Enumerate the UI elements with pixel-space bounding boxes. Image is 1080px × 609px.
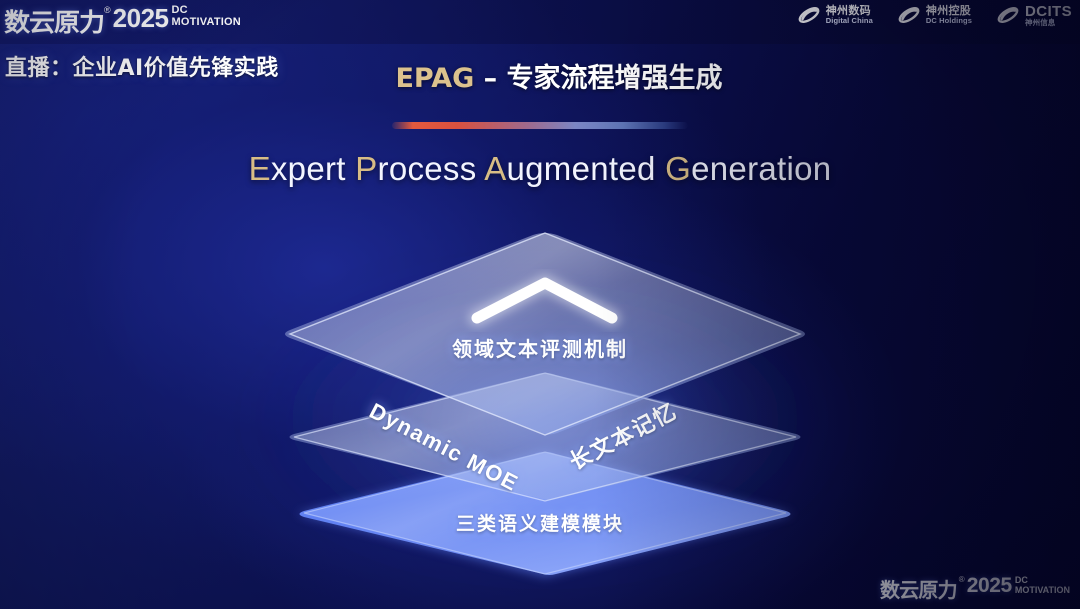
diagram-layer-middle	[290, 373, 801, 501]
partner-text: DCITS 神州信息	[1025, 4, 1072, 27]
layer-label-top: 领域文本评测机制	[452, 333, 628, 362]
partner-text: 神州数码 Digital China	[826, 6, 873, 25]
middle-plate	[290, 373, 801, 500]
watermark-dc: DC	[1015, 576, 1070, 585]
chevron-up-icon	[477, 283, 612, 318]
watermark-cn: 数云原力	[880, 574, 957, 603]
middle-plate-sheen	[294, 373, 796, 501]
subtitle-cap-e: E	[249, 150, 271, 187]
brand-logo-year: 2025	[113, 3, 169, 34]
middle-plate-edge	[294, 373, 796, 501]
partner-name-en: Digital China	[826, 17, 873, 25]
watermark-registered-mark: ®	[959, 575, 965, 584]
title-divider	[392, 122, 688, 129]
brand-logo-dc: DC	[172, 5, 241, 16]
partner-name-en: DC Holdings	[926, 17, 972, 25]
subtitle-cap-p: P	[355, 150, 377, 187]
footer-watermark-logo: 数云原力®2025 DC MOTIVATION	[880, 574, 1070, 603]
brand-logo-registered-mark: ®	[104, 5, 111, 15]
title-chinese: 专家流程增强生成	[507, 63, 723, 94]
partner-name-en: 神州信息	[1025, 19, 1072, 27]
brand-logo-motivation: MOTIVATION	[172, 17, 241, 28]
subtitle-cap-g: G	[665, 150, 691, 187]
swirl-icon	[996, 4, 1020, 26]
layer-label-long-text-memory: 长文本记忆	[563, 394, 682, 477]
layer-label-bottom: 三类语义建模模块	[456, 509, 624, 536]
subtitle-cap-a: A	[484, 150, 506, 187]
watermark-motivation: MOTIVATION	[1015, 586, 1070, 595]
watermark-dc-motivation: DC MOTIVATION	[1015, 576, 1070, 595]
swirl-icon	[897, 4, 921, 26]
partner-text: 神州控股 DC Holdings	[926, 6, 972, 25]
livestream-title: 直播：企业AI价值先锋实践	[5, 50, 279, 82]
slide-canvas: 领域文本评测机制 Dynamic MOE 长文本记忆 三类语义建模模块 EPAG…	[0, 0, 1080, 609]
watermark-year: 2025	[967, 574, 1012, 598]
subtitle-rest-generation: eneration	[691, 150, 831, 187]
partner-name-cn: DCITS	[1025, 4, 1072, 19]
subtitle-rest-expert: xpert	[271, 150, 346, 187]
brand-logo-cn: 数云原力	[4, 3, 104, 39]
partner-logo-dcits[interactable]: DCITS 神州信息	[996, 4, 1072, 27]
partner-logos: 神州数码 Digital China 神州控股 DC Holdings DCIT…	[797, 4, 1072, 27]
title-dash: –	[474, 63, 506, 94]
partner-logo-digital-china[interactable]: 神州数码 Digital China	[797, 4, 873, 26]
brand-logo: 数云原力®2025 DC MOTIVATION	[6, 3, 241, 39]
layer-label-dynamic-moe: Dynamic MOE	[365, 398, 523, 497]
page-subtitle: Expert Process Augmented Generation	[0, 150, 1080, 188]
partner-logo-dc-holdings[interactable]: 神州控股 DC Holdings	[897, 4, 972, 26]
brand-logo-dc-motivation: DC MOTIVATION	[172, 5, 241, 28]
subtitle-rest-augmented: ugmented	[507, 150, 656, 187]
title-acronym: EPAG	[395, 63, 474, 94]
swirl-icon	[797, 4, 821, 26]
subtitle-rest-process: rocess	[378, 150, 477, 187]
